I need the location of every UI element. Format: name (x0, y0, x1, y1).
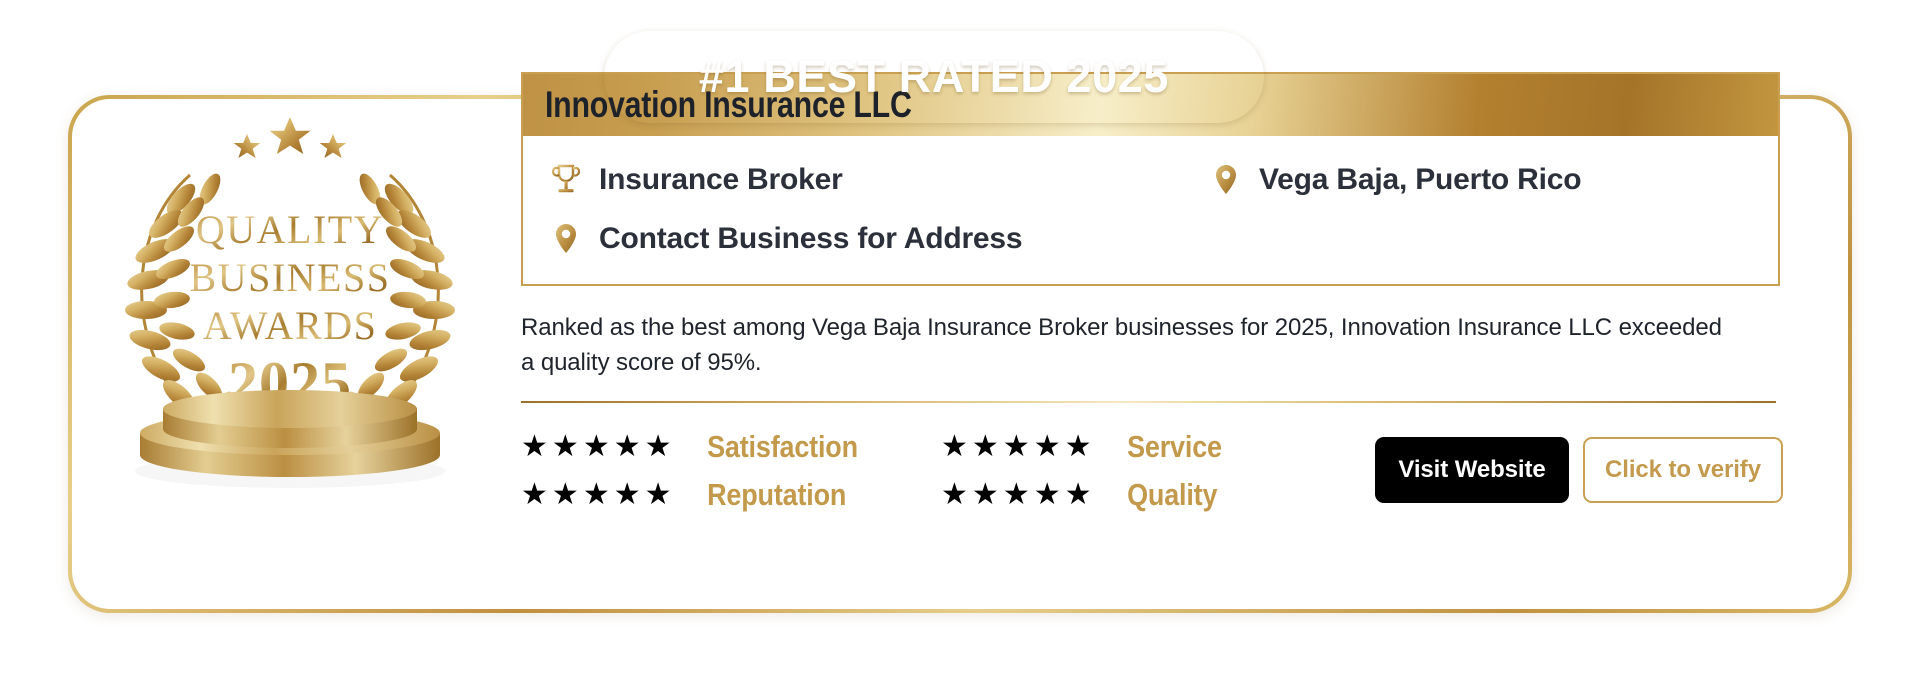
ratings-group: ★ ★ ★ ★ ★ Satisfaction ★ ★ ★ (521, 429, 1361, 513)
star-icon: ★ (521, 480, 548, 510)
star-icon: ★ (614, 480, 641, 510)
section-divider (521, 401, 1776, 403)
award-description: Ranked as the best among Vega Baja Insur… (521, 310, 1736, 380)
star-rating: ★ ★ ★ ★ ★ (521, 480, 681, 510)
map-pin-icon (1209, 160, 1243, 200)
star-icon: ★ (972, 480, 999, 510)
rating-label: Service (1101, 429, 1222, 465)
ratings-and-actions-row: ★ ★ ★ ★ ★ Satisfaction ★ ★ ★ (521, 429, 1783, 513)
star-icon: ★ (552, 432, 579, 462)
emblem-line-1: QUALITY (196, 207, 384, 252)
click-to-verify-button[interactable]: Click to verify (1583, 437, 1783, 503)
star-icon: ★ (521, 432, 548, 462)
star-icon: ★ (583, 432, 610, 462)
star-icon: ★ (941, 480, 968, 510)
star-icon: ★ (1034, 480, 1061, 510)
award-badge-page: #1 BEST RATED 2025 (0, 0, 1920, 674)
business-location-cell: Vega Baja, Puerto Rico (1183, 160, 1743, 200)
pedestal-icon (135, 390, 445, 488)
ribbon-label: #1 BEST RATED 2025 (699, 51, 1169, 103)
info-row: Contact Business for Address (523, 209, 1778, 268)
rating-label: Quality (1101, 477, 1217, 513)
ratings-column-right: ★ ★ ★ ★ ★ Service ★ ★ ★ ★ (941, 429, 1361, 513)
business-category-cell: Insurance Broker (523, 160, 1183, 200)
business-category: Insurance Broker (599, 163, 843, 197)
quality-business-awards-emblem: QUALITY BUSINESS AWARDS 2025 (95, 103, 485, 488)
star-icon: ★ (1065, 432, 1092, 462)
star-icon (270, 117, 311, 154)
business-info-rows: Insurance Broker (523, 136, 1778, 284)
star-icon: ★ (552, 480, 579, 510)
star-icon: ★ (614, 432, 641, 462)
rating-label: Satisfaction (681, 429, 858, 465)
emblem-line-2: BUSINESS (190, 255, 391, 300)
star-icon: ★ (645, 432, 672, 462)
star-icon (320, 134, 347, 158)
star-icon: ★ (1065, 480, 1092, 510)
rating-item: ★ ★ ★ ★ ★ Quality (941, 477, 1361, 513)
award-content: Innovation Insurance LLC (521, 72, 1783, 513)
star-icon: ★ (941, 432, 968, 462)
star-icon: ★ (1003, 432, 1030, 462)
star-rating: ★ ★ ★ ★ ★ (941, 432, 1101, 462)
star-icon: ★ (645, 480, 672, 510)
star-icon (234, 134, 261, 158)
action-buttons: Visit Website Click to verify (1375, 429, 1783, 503)
ratings-column-left: ★ ★ ★ ★ ★ Satisfaction ★ ★ ★ (521, 429, 941, 513)
star-rating: ★ ★ ★ ★ ★ (941, 480, 1101, 510)
rating-item: ★ ★ ★ ★ ★ Satisfaction (521, 429, 941, 465)
best-rated-ribbon: #1 BEST RATED 2025 (604, 31, 1264, 123)
rating-label: Reputation (681, 477, 846, 513)
star-icon: ★ (972, 432, 999, 462)
business-location: Vega Baja, Puerto Rico (1259, 163, 1581, 197)
star-icon: ★ (583, 480, 610, 510)
business-address-cell: Contact Business for Address (523, 219, 1183, 259)
info-row: Insurance Broker (523, 150, 1778, 209)
trophy-icon (549, 160, 583, 200)
star-icon: ★ (1003, 480, 1030, 510)
rating-item: ★ ★ ★ ★ ★ Reputation (521, 477, 941, 513)
star-icon: ★ (1034, 432, 1061, 462)
map-pin-icon (549, 219, 583, 259)
emblem-line-3: AWARDS (203, 303, 378, 348)
business-address: Contact Business for Address (599, 222, 1022, 256)
rating-item: ★ ★ ★ ★ ★ Service (941, 429, 1361, 465)
star-rating: ★ ★ ★ ★ ★ (521, 432, 681, 462)
visit-website-button[interactable]: Visit Website (1375, 437, 1569, 503)
